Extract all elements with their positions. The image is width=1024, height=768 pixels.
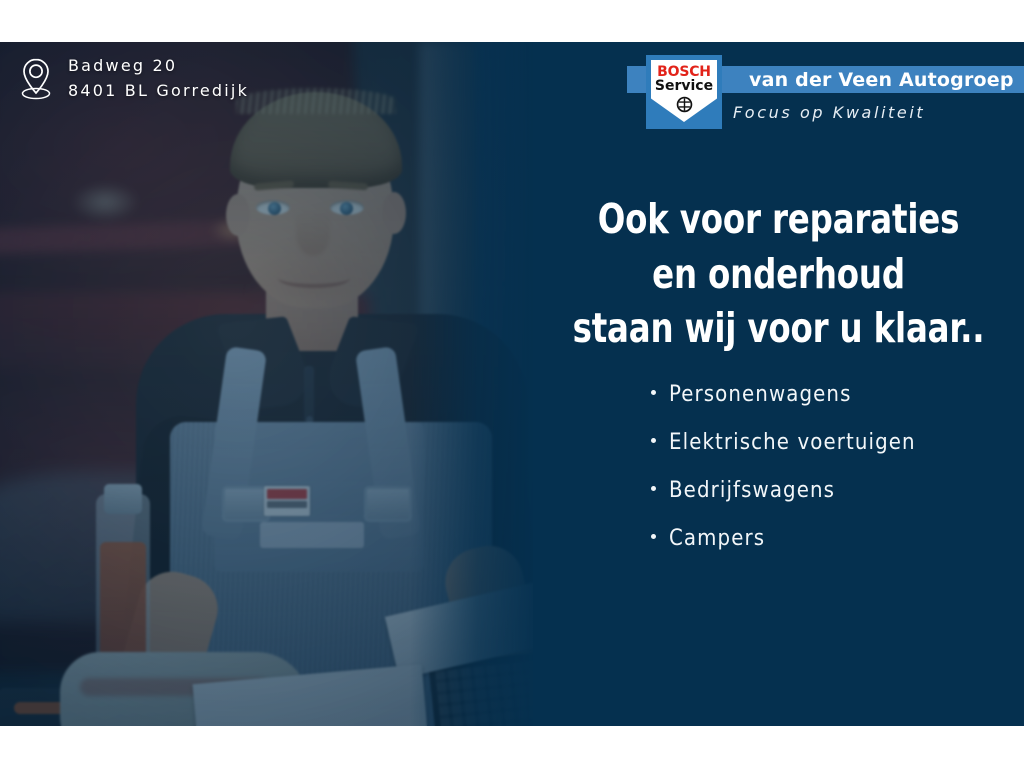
info-panel: BOSCH Service van der Veen Autogroep Foc… [533,42,1024,726]
headline-line-3: staan wij voor u klaar.. [562,301,994,356]
service-label: Bedrijfswagens [669,480,835,502]
list-item: Bedrijfswagens [651,480,916,502]
services-list: Personenwagens Elektrische voertuigen Be… [651,384,916,576]
bosch-logo-service-text: Service [655,79,713,94]
bullet-icon [651,438,656,443]
address-postcode-city: 8401 BL Gorredijk [68,79,249,104]
list-item: Personenwagens [651,384,916,406]
map-pin-icon [18,57,54,101]
advertisement-banner: Badweg 20 8401 BL Gorredijk BOSCH Servic… [0,0,1024,768]
company-name: van der Veen Autogroep [749,65,1024,95]
bosch-service-logo: BOSCH Service [646,55,722,129]
address-block: Badweg 20 8401 BL Gorredijk [18,54,249,104]
list-item: Elektrische voertuigen [651,432,916,454]
address-lines: Badweg 20 8401 BL Gorredijk [68,54,249,104]
list-item: Campers [651,528,916,550]
banner-content: Badweg 20 8401 BL Gorredijk BOSCH Servic… [0,42,1024,726]
address-street: Badweg 20 [68,54,249,79]
company-tagline: Focus op Kwaliteit [733,103,925,122]
bullet-icon [651,486,656,491]
mechanic-photo [0,42,560,726]
service-label: Elektrische voertuigen [669,432,916,454]
bosch-armature-icon [675,95,694,114]
headline: Ook voor reparaties en onderhoud staan w… [562,192,994,356]
bullet-icon [651,534,656,539]
bosch-logo-wordmark: BOSCH [657,65,711,79]
service-label: Personenwagens [669,384,851,406]
headline-line-2: en onderhoud [562,247,994,302]
bosch-logo-shield: BOSCH Service [651,60,717,122]
headline-line-1: Ook voor reparaties [562,192,994,247]
bullet-icon [651,390,656,395]
service-label: Campers [669,528,765,550]
